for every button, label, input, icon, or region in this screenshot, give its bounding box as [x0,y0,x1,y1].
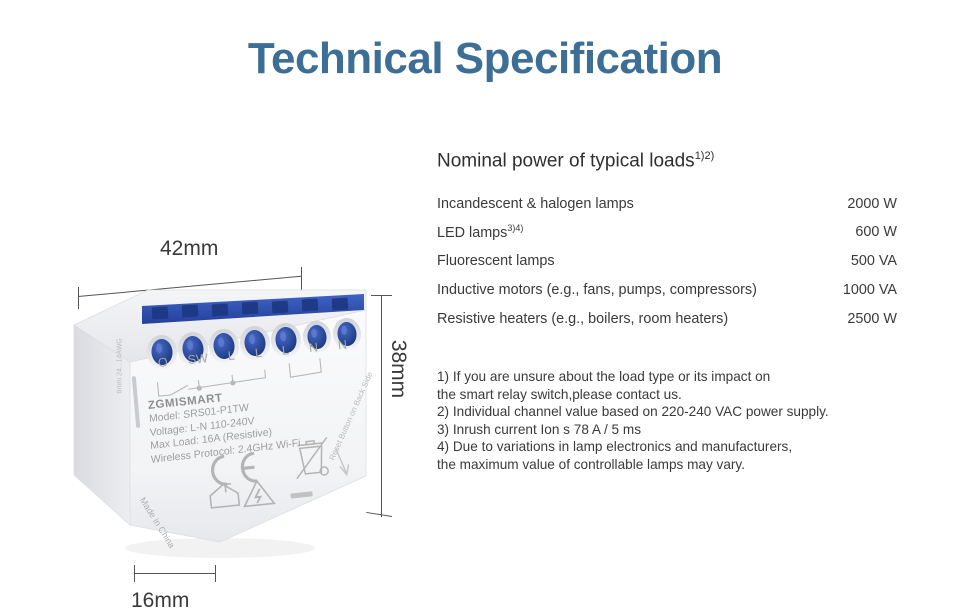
terminal-label-l1: L [227,348,235,363]
table-row: Resistive heaters (e.g., boilers, room h… [437,304,897,333]
load-value: 500 VA [830,246,897,275]
footnote-line: the maximum value of controllable lamps … [437,456,907,474]
specification-pane: Nominal power of typical loads1)2) Incan… [437,150,897,332]
dimension-tick-depth-right [215,565,216,582]
load-value: 2000 W [830,188,897,217]
load-label: Incandescent & halogen lamps [437,196,634,212]
table-row: Fluorescent lamps 500 VA [437,246,897,275]
terminal-label-sw: SW [187,351,208,367]
terminal-label-o: O [157,355,168,370]
load-value: 1000 VA [830,275,897,304]
load-label-cell: LED lamps3)4) [437,217,830,246]
load-table: Incandescent & halogen lamps 2000 W LED … [437,188,897,332]
dimension-label-width: 42mm [160,237,218,261]
spec-heading-superscript: 1)2) [695,150,715,162]
load-label: Resistive heaters (e.g., boilers, room h… [437,311,728,327]
dimension-tick-height-bottom [366,512,392,517]
footnote-line: 3) Inrush current Ion s 78 A / 5 ms [437,421,907,439]
table-row: LED lamps3)4) 600 W [437,217,897,246]
dimension-tick-depth-left [134,565,135,582]
footnote-line: 2) Individual channel value based on 220… [437,403,907,421]
footnote-line: the smart relay switch,please contact us… [437,386,907,404]
load-label-cell: Incandescent & halogen lamps [437,188,830,217]
load-label-cell: Fluorescent lamps [437,246,830,275]
table-row: Inductive motors (e.g., fans, pumps, com… [437,275,897,304]
spec-sheet-page: Technical Specification 42mm 38mm 16mm [0,0,970,567]
page-title: Technical Specification [0,34,970,84]
load-label: Fluorescent lamps [437,253,555,269]
load-label-cell: Inductive motors (e.g., fans, pumps, com… [437,275,830,304]
load-label-cell: Resistive heaters (e.g., boilers, room h… [437,304,830,333]
load-value: 2500 W [830,304,897,333]
dimension-label-depth: 16mm [131,589,189,613]
load-value: 600 W [830,217,897,246]
spec-heading-text: Nominal power of typical loads [437,150,695,171]
smart-relay-device-image: O SW L L L N N ZGMISMART Model: SRS01-P1… [70,280,370,565]
dimension-line-height [381,295,382,517]
dimension-line-depth [134,573,216,574]
wire-gauge-label: 6mm 24...14AWG [117,338,124,393]
dimension-label-height: 38mm [386,340,410,398]
footnote-line: 1) If you are unsure about the load type… [437,368,907,386]
footnotes-block: 1) If you are unsure about the load type… [437,368,907,473]
load-label-sup: 3)4) [507,223,523,233]
spec-heading: Nominal power of typical loads1)2) [437,150,897,172]
load-label: LED lamps [437,224,507,240]
terminal-label-l2: L [254,346,262,361]
footnote-line: 4) Due to variations in lamp electronics… [437,438,907,456]
load-label: Inductive motors (e.g., fans, pumps, com… [437,282,757,298]
dimension-tick-height-top [371,295,392,296]
terminal-label-l3: L [281,343,289,358]
terminal-label-n1: N [308,340,318,355]
table-row: Incandescent & halogen lamps 2000 W [437,188,897,217]
terminal-label-n2: N [337,338,347,353]
product-illustration-pane: 42mm 38mm 16mm [0,110,420,550]
